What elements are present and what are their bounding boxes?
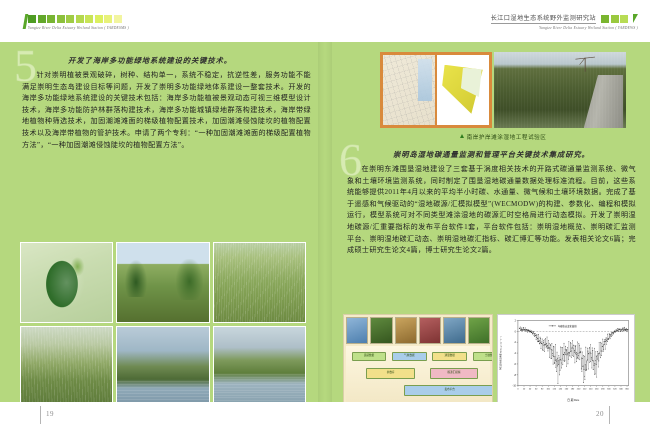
svg-text:-4: -4 — [514, 353, 517, 355]
svg-text:220: 220 — [583, 388, 587, 390]
dike-construction-photo — [494, 52, 626, 128]
header-swatch-8 — [104, 15, 112, 23]
header-swatch-6 — [85, 15, 93, 23]
right-top-figure: 华东师范大学 湿地监测系统 — [380, 52, 626, 128]
page-number-right: 20 — [596, 410, 604, 418]
diagram-node-3: 土壤数据 — [473, 352, 493, 361]
diagram-node-5: 参数库 — [366, 368, 415, 378]
svg-text:-8: -8 — [514, 375, 517, 377]
left-photo-grid — [20, 242, 306, 407]
right-bottom-figures: 遥感数据气象数据通量数据土壤数据模型驱动参数库碳源汇模拟结果输出发布平台 20-… — [343, 314, 635, 410]
header-swatch-0 — [601, 15, 609, 23]
diagram-thumbnail-row — [346, 317, 490, 344]
carbon-flux-chart: 20-2-4-6-8-10020406080100120140160180200… — [497, 314, 635, 410]
svg-text:-2: -2 — [514, 342, 517, 344]
svg-text:80: 80 — [541, 388, 544, 390]
svg-text:-10: -10 — [513, 386, 517, 388]
header-right-english: Yangtze River Delta Estuary Wetland Stat… — [491, 26, 638, 30]
diagram-node-8: 发布平台 — [404, 385, 493, 396]
header-left-swatches — [28, 14, 129, 23]
header-left: Yangtze River Delta Estuary Wetland Stat… — [0, 0, 325, 42]
header-right-swatches — [601, 14, 628, 23]
tidal-flat-water-photo — [116, 326, 209, 407]
header-left-english: Yangtze River Delta Estuary Wetland Stat… — [28, 26, 129, 30]
diagram-thumb-soil — [395, 317, 417, 344]
svg-text:340: 340 — [619, 388, 623, 390]
right-section-number: 6 — [339, 142, 362, 178]
page-number-left: 19 — [46, 410, 54, 418]
three-d-render-view-photo — [116, 242, 209, 323]
map-panel-group: 华东师范大学 湿地监测系统 — [380, 52, 492, 128]
diagram-node-6: 碳源汇模拟 — [430, 368, 479, 378]
svg-text:年碳收支变化曲线: 年碳收支变化曲线 — [558, 324, 577, 328]
svg-text:180: 180 — [571, 388, 575, 390]
svg-text:360: 360 — [625, 388, 629, 390]
footer-left: 19 — [0, 402, 325, 437]
svg-text:200: 200 — [577, 388, 581, 390]
diagram-flow-area: 遥感数据气象数据通量数据土壤数据模型驱动参数库碳源汇模拟结果输出发布平台 — [346, 346, 490, 402]
crane-icon — [568, 55, 602, 72]
right-section-body: 在崇明东滩围垦湿地建设了三套基于涡度相关技术的开路式碳通量监测系统、微气象和土壤… — [347, 164, 636, 257]
header-swatch-3 — [57, 15, 65, 23]
svg-text:40: 40 — [529, 388, 532, 390]
reed-marsh-photo — [213, 242, 306, 323]
diagram-node-0: 遥感数据 — [352, 352, 387, 361]
left-section-body: 针对崇明植被景观破碎，树种、结构单一，系统不稳定，抗逆性差，服务功能不能满足崇明… — [22, 70, 311, 151]
site-location-map — [383, 55, 435, 125]
creek-shoreline-photo — [213, 326, 306, 407]
carbon-model-framework-diagram: 遥感数据气象数据通量数据土壤数据模型驱动参数库碳源汇模拟结果输出发布平台 — [343, 314, 493, 410]
diagram-thumb-wetland — [468, 317, 490, 344]
header-swatch-1 — [611, 15, 619, 23]
svg-text:净生态系统交换量 NEE ( g C m⁻² d⁻¹ ): 净生态系统交换量 NEE ( g C m⁻² d⁻¹ ) — [499, 336, 503, 371]
diagram-thumb-vegetation — [370, 317, 392, 344]
header-swatch-7 — [95, 15, 103, 23]
magazine-spread: Yangtze River Delta Estuary Wetland Stat… — [0, 0, 650, 437]
header-swatch-1 — [38, 15, 46, 23]
right-top-figure-caption: 南岸护岸滩涂湿地工程试验区 — [467, 135, 547, 141]
right-page: 华东师范大学 湿地监测系统 南岸护岸滩涂湿地工程试验区 6 崇明岛湿地碳通量监测… — [325, 42, 650, 402]
svg-text:20: 20 — [523, 388, 526, 390]
svg-text:300: 300 — [607, 388, 611, 390]
left-page: 5 开发了海岸多功能绿地系统建设的关键技术。 针对崇明植被景观破碎，树种、结构单… — [0, 42, 325, 402]
svg-text:60: 60 — [535, 388, 538, 390]
svg-text:0: 0 — [517, 388, 519, 390]
right-top-figure-caption-row: 南岸护岸滩涂湿地工程试验区 — [380, 133, 626, 141]
header-swatch-9 — [114, 15, 122, 23]
header-swatch-2 — [47, 15, 55, 23]
triangle-bullet-icon — [460, 134, 464, 138]
experimental-zone-map — [437, 55, 489, 125]
header-right-top-row: 长江口湿地生态系统野外监测研究站 — [491, 13, 638, 24]
carbon-flux-chart-svg: 20-2-4-6-8-10020406080100120140160180200… — [498, 315, 634, 402]
diagram-node-1: 气象数据 — [392, 352, 427, 361]
svg-text:0: 0 — [515, 331, 517, 333]
footer-left-rule — [40, 406, 41, 424]
svg-text:260: 260 — [595, 388, 599, 390]
svg-text:280: 280 — [601, 388, 605, 390]
svg-text:100: 100 — [547, 388, 551, 390]
coastal-vegetation-photo — [20, 326, 113, 407]
header-swatch-2 — [620, 15, 628, 23]
svg-text:320: 320 — [613, 388, 617, 390]
footer-right: 20 — [325, 402, 650, 437]
header-swatch-5 — [76, 15, 84, 23]
header-right-tail-icon — [633, 14, 638, 23]
svg-text:140: 140 — [559, 388, 563, 390]
right-section-lead: 崇明岛湿地碳通量监测和管理平台关键技术集成研究。 — [393, 150, 636, 160]
header-right: 长江口湿地生态系统野外监测研究站 Yangtze River Delta Est… — [325, 0, 650, 42]
svg-text:160: 160 — [565, 388, 569, 390]
diagram-thumb-weather — [443, 317, 465, 344]
header-swatch-4 — [66, 15, 74, 23]
diagram-thumb-flux — [419, 317, 441, 344]
header-left-inner: Yangtze River Delta Estuary Wetland Stat… — [28, 14, 129, 30]
svg-text:240: 240 — [589, 388, 593, 390]
right-top-figure-caption-wrap: 南岸护岸滩涂湿地工程试验区 — [380, 130, 626, 141]
svg-text:120: 120 — [553, 388, 557, 390]
svg-text:2: 2 — [515, 320, 517, 322]
diagram-thumb-remote-sensing — [346, 317, 368, 344]
header-swatch-0 — [28, 15, 36, 23]
svg-text:-6: -6 — [514, 364, 517, 366]
left-section-number: 5 — [14, 48, 37, 84]
station-title-chinese: 长江口湿地生态系统野外监测研究站 — [491, 13, 596, 24]
diagram-node-2: 通量数据 — [432, 352, 467, 361]
header-right-inner: 长江口湿地生态系统野外监测研究站 Yangtze River Delta Est… — [491, 13, 638, 30]
footer-right-rule — [609, 406, 610, 424]
left-section-lead: 开发了海岸多功能绿地系统建设的关键技术。 — [68, 56, 311, 66]
landscape-plan-map-photo — [20, 242, 113, 323]
